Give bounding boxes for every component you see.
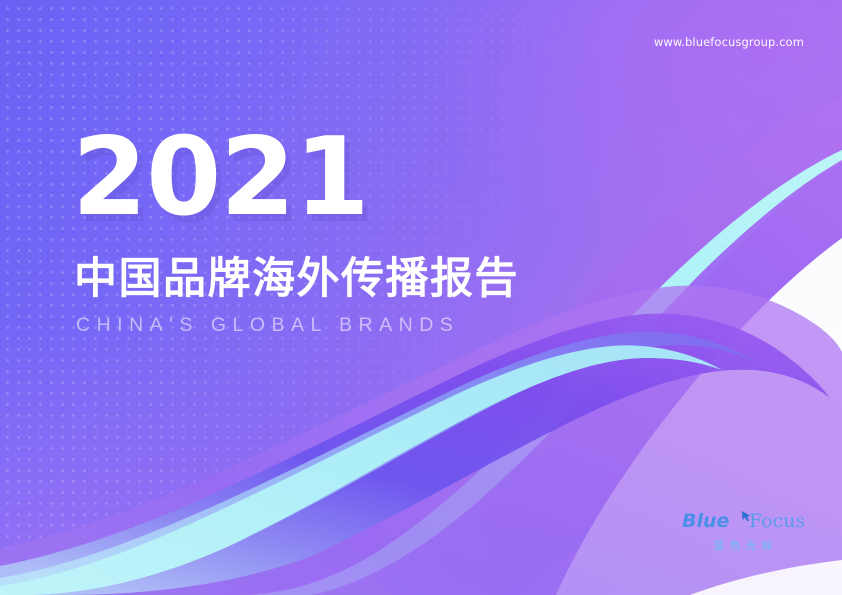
website-url[interactable]: www.bluefocusgroup.com: [654, 35, 804, 49]
page-title-year: 2021: [72, 124, 369, 232]
logo-word-blue: Blue: [682, 510, 730, 532]
bluefocus-wordmark: Blue Focus: [682, 508, 804, 534]
logo-name-chinese: 蓝色光标: [678, 538, 808, 553]
page-title-chinese: 中国品牌海外传播报告: [74, 256, 519, 303]
page-subtitle-english: CHINA'S GLOBAL BRANDS: [76, 315, 459, 336]
bluefocus-logo[interactable]: Blue Focus 蓝色光标: [678, 508, 808, 553]
report-cover-page: www.bluefocusgroup.com 2021 中国品牌海外传播报告 C…: [0, 0, 842, 595]
logo-word-focus: Focus: [749, 510, 804, 532]
